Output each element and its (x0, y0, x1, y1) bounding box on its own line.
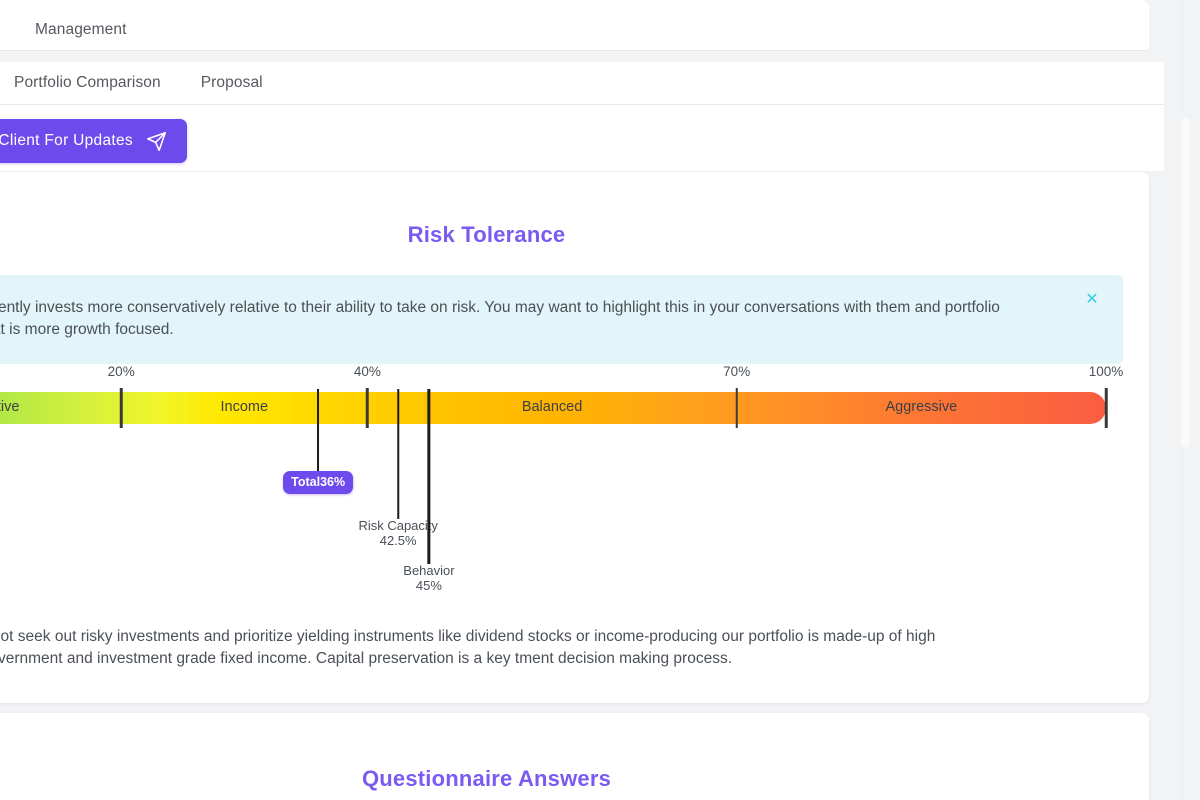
risk-scale-tick (735, 388, 738, 428)
risk-marker-badge-name: Total (291, 475, 320, 489)
ask-client-button-label: Ask Client For Updates (0, 132, 133, 150)
risk-marker-badge-value: 36% (320, 475, 345, 489)
risk-scale-tick-label: 100% (1089, 364, 1124, 379)
risk-marker-behavior: Behavior45% (403, 389, 454, 593)
risk-scale-chart: rvativeIncomeBalancedAggressive20%40%70%… (0, 372, 1149, 602)
main-nav: ls Portfolios Management (0, 9, 1149, 51)
page-title: Risk Tolerance (0, 172, 1149, 248)
questionnaire-answers-card: Questionnaire Answers (0, 713, 1149, 800)
risk-scale-tick-label: 70% (723, 364, 750, 379)
ask-client-for-updates-button[interactable]: Ask Client For Updates (0, 119, 187, 163)
questionnaire-title: Questionnaire Answers (0, 713, 1149, 792)
risk-summary-lead: erance is considered Income. (0, 587, 939, 609)
close-icon[interactable]: ✕ (1083, 291, 1101, 309)
risk-tolerance-card: Risk Tolerance urrently invests more con… (0, 172, 1149, 703)
risk-marker-badge: Total36% (283, 471, 353, 494)
info-banner: urrently invests more conservatively rel… (0, 275, 1123, 364)
tab-proposal[interactable]: Proposal (201, 74, 263, 92)
risk-marker-name: Behavior (403, 563, 454, 578)
risk-summary: erance is considered Income. d risk tole… (0, 587, 939, 669)
risk-marker-needle (397, 389, 400, 519)
send-icon (146, 131, 167, 152)
nav-item-management[interactable]: Management (35, 21, 126, 39)
risk-segment-label: rvative (0, 399, 19, 415)
app-root: ls Portfolios Management Portfolio Compa… (0, 0, 1200, 800)
risk-segment-label: Aggressive (885, 399, 957, 415)
info-banner-text: urrently invests more conservatively rel… (0, 297, 1029, 341)
risk-segment-label: Balanced (522, 399, 582, 415)
tab-portfolio-comparison[interactable]: Portfolio Comparison (14, 74, 161, 92)
page-scrollbar[interactable] (1182, 0, 1196, 800)
sub-nav: Portfolio Comparison Proposal (0, 62, 1164, 105)
risk-marker-needle (428, 389, 431, 564)
risk-scale-tick (1105, 388, 1108, 428)
risk-scale-tick (120, 388, 123, 428)
risk-scale-tick-label: 20% (108, 364, 135, 379)
risk-summary-body: d risk tolerance indicates you generally… (0, 626, 939, 669)
action-bar: Ask Client For Updates (0, 105, 1164, 171)
page-scrollbar-thumb[interactable] (1181, 118, 1190, 448)
risk-marker-needle (317, 389, 320, 471)
risk-marker-total: Total36% (283, 389, 353, 494)
risk-segment-label: Income (221, 399, 269, 415)
risk-scale-tick-label: 40% (354, 364, 381, 379)
